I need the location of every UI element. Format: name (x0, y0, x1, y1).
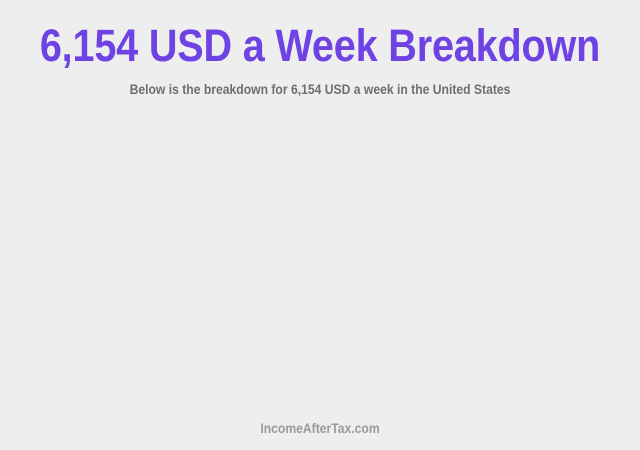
page-subtitle: Below is the breakdown for 6,154 USD a w… (32, 70, 608, 98)
page-title: 6,154 USD a Week Breakdown (38, 22, 601, 70)
page-header: 6,154 USD a Week Breakdown Below is the … (0, 0, 640, 98)
page-footer: IncomeAfterTax.com (0, 422, 640, 450)
footer-brand-label: IncomeAfterTax.com (32, 422, 608, 436)
breakdown-content-region (0, 98, 640, 422)
page-root: 6,154 USD a Week Breakdown Below is the … (0, 0, 640, 450)
